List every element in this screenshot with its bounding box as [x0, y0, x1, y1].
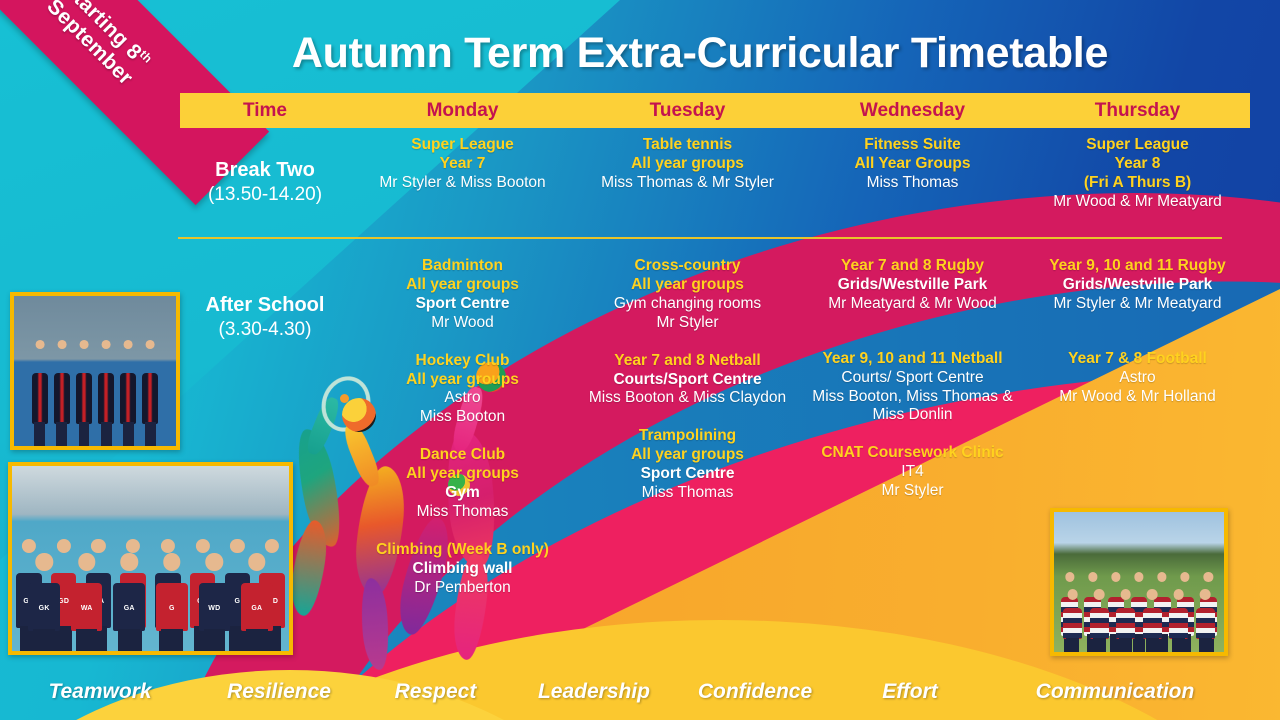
activity-year: Year 7 [354, 155, 571, 174]
row-divider-line [178, 237, 1222, 239]
activity-location: Gym changing rooms [579, 295, 796, 314]
photo-football-team [10, 292, 180, 450]
photo-rugby-front-row [1054, 588, 1224, 652]
value-communication: Communication [985, 680, 1245, 704]
timetable-row-break-two: Break Two (13.50-14.20) Super League Yea… [180, 128, 1250, 212]
activity-name: Climbing (Week B only) [354, 541, 571, 560]
activity-staff: Mr Styler & Mr Meatyard [1029, 295, 1246, 314]
cell-after-monday: Badminton All year groups Sport Centre M… [350, 255, 575, 598]
activity-name: Super League [1029, 136, 1246, 155]
activity-location: Grids/Westville Park [804, 276, 1021, 295]
activity-name: Year 9, 10 and 11 Netball [804, 350, 1021, 369]
activity-year: All year groups [579, 446, 796, 465]
time-label-sub: (3.30-4.30) [184, 318, 346, 342]
activity-location: Climbing wall [354, 560, 571, 579]
bib-label: GA [241, 605, 273, 612]
activity-name: Dance Club [354, 446, 571, 465]
value-effort: Effort [835, 680, 985, 704]
activity-name: Super League [354, 136, 571, 155]
activity-entry: Trampolining All year groups Sport Centr… [579, 427, 796, 503]
activity-staff: Mr Wood [354, 314, 571, 333]
activity-year: All year groups [354, 371, 571, 390]
player-figure [1113, 588, 1139, 652]
activity-entry: Year 7 and 8 Rugby Grids/Westville Park … [804, 257, 1021, 314]
activity-location: Grids/Westville Park [1029, 276, 1246, 295]
activity-name: CNAT Coursework Clinic [804, 444, 1021, 463]
bib-label: G [156, 605, 188, 612]
activity-location: Sport Centre [354, 295, 571, 314]
activity-name: Fitness Suite [804, 136, 1021, 155]
time-label: After School (3.30-4.30) [184, 293, 346, 342]
timetable-header-row: Time Monday Tuesday Wednesday Thursday [180, 93, 1250, 128]
activity-entry: Year 7 and 8 Netball Courts/Sport Centre… [579, 352, 796, 409]
activity-note: (Fri A Thurs B) [1029, 174, 1246, 193]
cell-break-thursday: Super League Year 8 (Fri A Thurs B) Mr W… [1025, 128, 1250, 212]
timetable: Time Monday Tuesday Wednesday Thursday B… [180, 93, 1250, 128]
player-figure: GA [108, 551, 150, 651]
activity-entry: Table tennis All year groups Miss Thomas… [579, 136, 796, 193]
player-figure: WA [66, 551, 108, 651]
activity-location: Sport Centre [579, 465, 796, 484]
activity-entry: Year 7 & 8 Football Astro Mr Wood & Mr H… [1029, 350, 1246, 407]
player-figure [1193, 588, 1219, 652]
activity-year: All year groups [579, 155, 796, 174]
activity-entry: Cross-country All year groups Gym changi… [579, 257, 796, 333]
activity-year: All Year Groups [804, 155, 1021, 174]
player-figure [118, 338, 139, 446]
player-figure [1140, 588, 1166, 652]
value-respect: Respect [358, 680, 513, 704]
player-figure: G [151, 551, 193, 651]
activity-staff: Miss Thomas [354, 503, 571, 522]
activity-name: Trampolining [579, 427, 796, 446]
school-values-bar: Teamwork Resilience Respect Leadership C… [0, 672, 1280, 712]
activity-location: Astro [1029, 369, 1246, 388]
cell-after-tuesday: Cross-country All year groups Gym changi… [575, 255, 800, 598]
activity-name: Table tennis [579, 136, 796, 155]
cell-break-wednesday: Fitness Suite All Year Groups Miss Thoma… [800, 128, 1025, 212]
value-resilience: Resilience [200, 680, 358, 704]
activity-year: Year 8 [1029, 155, 1246, 174]
activity-staff: Miss Thomas & Mr Styler [579, 174, 796, 193]
activity-entry: Fitness Suite All Year Groups Miss Thoma… [804, 136, 1021, 193]
player-figure [73, 338, 94, 446]
column-header-thursday: Thursday [1025, 100, 1250, 122]
activity-name: Year 7 and 8 Rugby [804, 257, 1021, 276]
activity-name: Hockey Club [354, 352, 571, 371]
activity-entry: Dance Club All year groups Gym Miss Thom… [354, 446, 571, 522]
activity-location: Courts/ Sport Centre [804, 369, 1021, 388]
player-figure: GK [23, 551, 65, 651]
activity-staff: Miss Booton [354, 408, 571, 427]
activity-entry: Hockey Club All year groups Astro Miss B… [354, 352, 571, 428]
activity-location: Gym [354, 484, 571, 503]
cell-after-wednesday: Year 7 and 8 Rugby Grids/Westville Park … [800, 255, 1025, 598]
column-header-wednesday: Wednesday [800, 100, 1025, 122]
time-label-main: Break Two [184, 158, 346, 183]
bib-label: GK [28, 605, 60, 612]
player-figure [1166, 588, 1192, 652]
activity-staff: Miss Thomas [804, 174, 1021, 193]
player-figure [1060, 588, 1086, 652]
activity-staff: Mr Meatyard & Mr Wood [804, 295, 1021, 314]
column-header-tuesday: Tuesday [575, 100, 800, 122]
player-figure [1087, 588, 1113, 652]
player-figure: WD [194, 551, 236, 651]
activity-entry: Super League Year 8 (Fri A Thurs B) Mr W… [1029, 136, 1246, 212]
bib-label: WA [71, 605, 103, 612]
column-header-time: Time [180, 100, 350, 122]
activity-entry: Year 9, 10 and 11 Netball Courts/ Sport … [804, 350, 1021, 426]
activity-year: All year groups [354, 276, 571, 295]
activity-staff: Mr Styler & Miss Booton [354, 174, 571, 193]
player-figure [29, 338, 50, 446]
activity-staff: Mr Wood & Mr Holland [1029, 388, 1246, 407]
player-figure [140, 338, 161, 446]
time-label: Break Two (13.50-14.20) [184, 158, 346, 207]
activity-entry: CNAT Coursework Clinic IT4 Mr Styler [804, 444, 1021, 501]
activity-staff: Miss Booton, Miss Thomas & Miss Donlin [804, 388, 1021, 426]
activity-entry: Super League Year 7 Mr Styler & Miss Boo… [354, 136, 571, 193]
player-figure: GA [236, 551, 278, 651]
time-label-sub: (13.50-14.20) [184, 183, 346, 207]
value-teamwork: Teamwork [0, 680, 200, 704]
row-time-label-cell: Break Two (13.50-14.20) [180, 128, 350, 212]
activity-name: Year 9, 10 and 11 Rugby [1029, 257, 1246, 276]
activity-name: Year 7 & 8 Football [1029, 350, 1246, 369]
poster-canvas: Starting 8th September Autumn Term Extra… [0, 0, 1280, 720]
activity-entry: Climbing (Week B only) Climbing wall Dr … [354, 541, 571, 598]
activity-staff: Mr Styler [804, 482, 1021, 501]
time-label-main: After School [184, 293, 346, 318]
player-figure [96, 338, 117, 446]
activity-staff: Miss Thomas [579, 484, 796, 503]
activity-staff: Dr Pemberton [354, 579, 571, 598]
activity-year: All year groups [579, 276, 796, 295]
photo-netball-team: GD GD WA GS GS GK G WD GK WA GA G WD GA [8, 462, 293, 655]
value-leadership: Leadership [513, 680, 675, 704]
value-confidence: Confidence [675, 680, 835, 704]
activity-year: All year groups [354, 465, 571, 484]
activity-name: Cross-country [579, 257, 796, 276]
photo-football-players [14, 338, 176, 446]
photo-netball-front-row: GK WA GA G WD GA [12, 551, 289, 651]
activity-staff: Miss Booton & Miss Claydon [579, 389, 796, 408]
activity-entry: Badminton All year groups Sport Centre M… [354, 257, 571, 333]
activity-staff: Mr Wood & Mr Meatyard [1029, 193, 1246, 212]
activity-location: Courts/Sport Centre [579, 371, 796, 390]
photo-rugby-team [1050, 508, 1228, 656]
bib-label: GA [113, 605, 145, 612]
bib-label: WD [199, 605, 231, 612]
cell-break-tuesday: Table tennis All year groups Miss Thomas… [575, 128, 800, 212]
page-title: Autumn Term Extra-Curricular Timetable [180, 24, 1220, 82]
player-figure [51, 338, 72, 446]
activity-entry: Year 9, 10 and 11 Rugby Grids/Westville … [1029, 257, 1246, 314]
activity-name: Badminton [354, 257, 571, 276]
activity-location: IT4 [804, 463, 1021, 482]
activity-name: Year 7 and 8 Netball [579, 352, 796, 371]
cell-break-monday: Super League Year 7 Mr Styler & Miss Boo… [350, 128, 575, 212]
column-header-monday: Monday [350, 100, 575, 122]
activity-location: Astro [354, 389, 571, 408]
activity-staff: Mr Styler [579, 314, 796, 333]
